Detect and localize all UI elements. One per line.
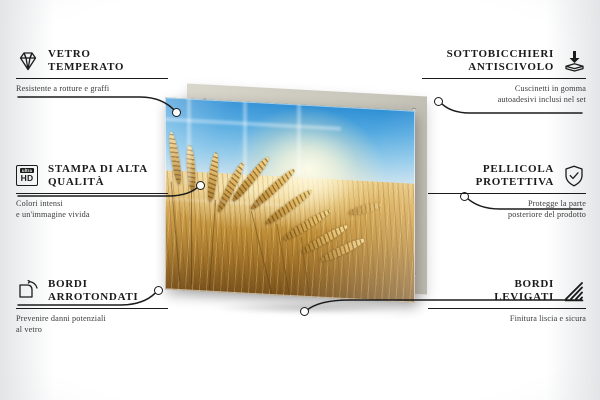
product-illustration	[165, 82, 450, 314]
feature-description: Prevenire danni potenzialial vetro	[16, 314, 168, 335]
feature-description: Protegge la parteposteriore del prodotto	[428, 199, 586, 220]
connector-dot-levigati	[300, 307, 309, 316]
glass-panel	[165, 97, 415, 303]
divider	[16, 308, 168, 309]
feature-bordi-levigati: BORDILEVIGATI Finitura liscia e sicura	[428, 278, 586, 325]
feature-title: BORDILEVIGATI	[494, 278, 554, 303]
window-reflection	[187, 98, 191, 184]
window-reflection	[243, 101, 247, 179]
divider	[16, 78, 168, 79]
wheat-stalk	[191, 189, 192, 285]
feature-title: VETROTEMPERATO	[48, 48, 124, 73]
feature-description: Resistente a rotture e graffi	[16, 84, 168, 95]
wheat-field-photo	[165, 97, 415, 303]
rounded-corner-icon	[16, 279, 40, 303]
feature-sottobicchieri-antiscivolo: SOTTOBICCHIERIANTISCIVOLO Cuscinetti in …	[422, 48, 586, 105]
feature-title: STAMPA DI ALTAQUALITÀ	[48, 163, 148, 188]
feature-description: Colori intensie un'immagine vivida	[16, 199, 168, 220]
feature-title: SOTTOBICCHIERIANTISCIVOLO	[447, 48, 554, 73]
divider	[428, 193, 586, 194]
feature-description: Finitura liscia e sicura	[428, 314, 586, 325]
connector-dot-stampa	[196, 181, 205, 190]
feature-stampa-alta-qualita: ultra HD STAMPA DI ALTAQUALITÀ Colori in…	[16, 163, 168, 220]
feature-vetro-temperato: VETROTEMPERATO Resistente a rotture e gr…	[16, 48, 168, 95]
divider	[16, 193, 168, 194]
feature-pellicola-protettiva: PELLICOLAPROTETTIVA Protegge la partepos…	[428, 163, 586, 220]
feature-title: PELLICOLAPROTETTIVA	[476, 163, 554, 188]
wire-vetro	[18, 97, 176, 112]
connector-dot-vetro	[172, 108, 181, 117]
infographic-stage: VETROTEMPERATO Resistente a rotture e gr…	[0, 0, 600, 400]
feature-description: Cuscinetti in gommaautoadesivi inclusi n…	[422, 84, 586, 105]
ultra-hd-bottom-label: HD	[21, 174, 34, 183]
diagonal-stripes-icon	[562, 279, 586, 303]
shield-check-icon	[562, 164, 586, 188]
window-reflection	[297, 104, 301, 174]
feature-bordi-arrotondati: BORDIARROTONDATI Prevenire danni potenzi…	[16, 278, 168, 335]
diamond-icon	[16, 49, 40, 73]
divider	[422, 78, 586, 79]
divider	[428, 308, 586, 309]
anti-slip-pad-icon	[562, 49, 586, 73]
feature-title: BORDIARROTONDATI	[48, 278, 138, 303]
ultra-hd-badge-icon: ultra HD	[16, 164, 40, 188]
